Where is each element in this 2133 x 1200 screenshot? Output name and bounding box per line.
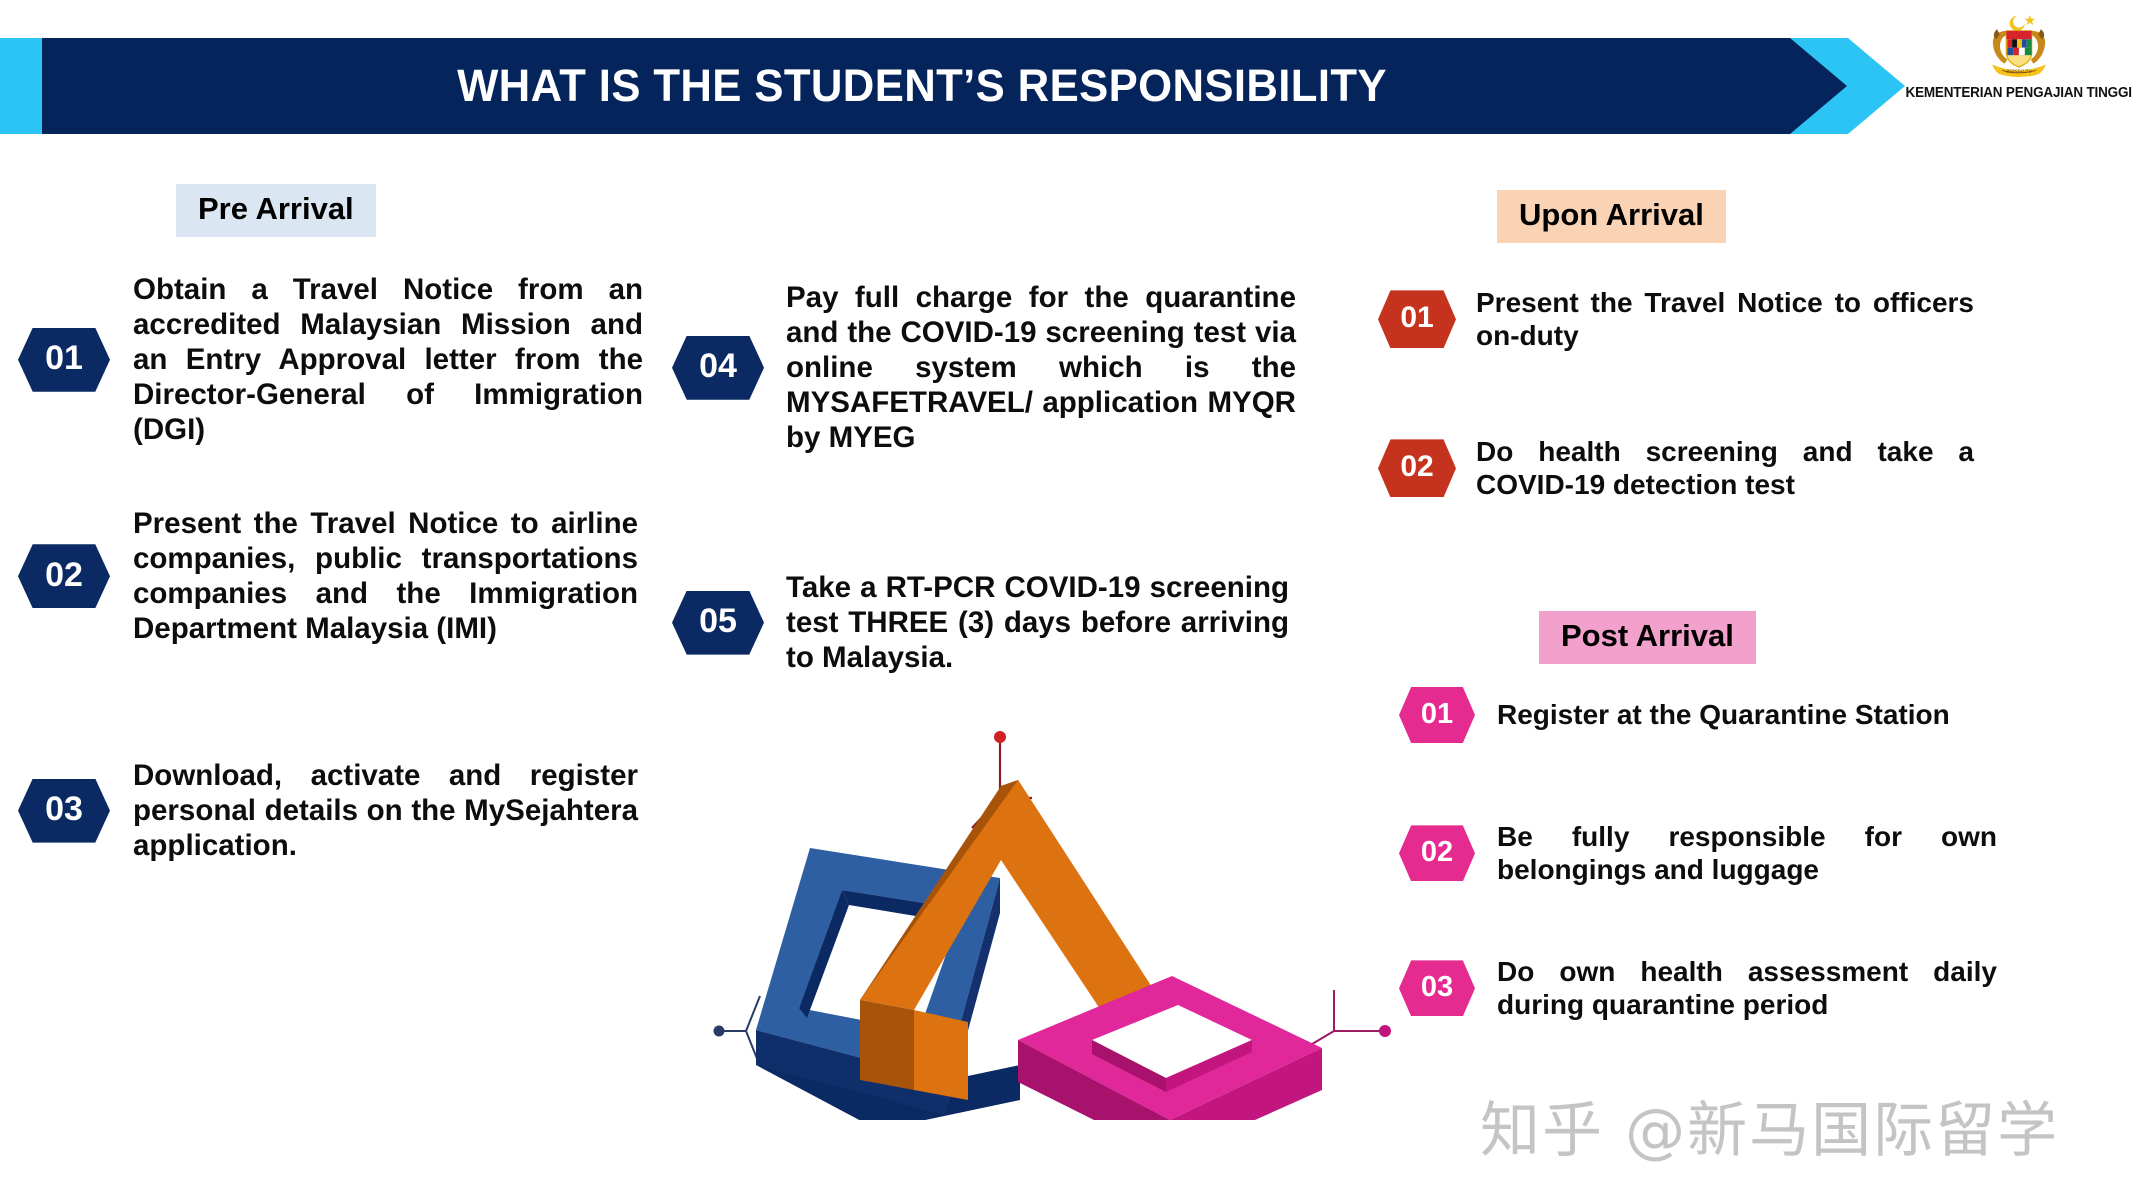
list-item-text: Download, activate and register personal… [133, 758, 638, 863]
pin-dot-top [994, 731, 1006, 743]
ministry-name-label: KEMENTERIAN PENGAJIAN TINGGI [1906, 85, 2132, 101]
header-banner: WHAT IS THE STUDENT’S RESPONSIBILITY [0, 38, 1905, 134]
list-item-text: Obtain a Travel Notice from an accredite… [133, 272, 643, 447]
list-item: 02 Present the Travel Notice to airline … [18, 506, 678, 646]
list-item-text: Present the Travel Notice to officers on… [1476, 286, 1974, 353]
list-item-text: Do health screening and take a COVID-19 … [1476, 435, 1974, 502]
step-badge: 01 [1399, 687, 1475, 743]
section-heading-pre-arrival: Pre Arrival [176, 184, 376, 237]
pin-dot-left [714, 1026, 725, 1037]
list-item: 01 Present the Travel Notice to officers… [1378, 286, 2078, 353]
list-item: 03 Download, activate and register perso… [18, 758, 678, 863]
list-item-text: Pay full charge for the quarantine and t… [786, 280, 1296, 455]
step-badge: 03 [18, 779, 110, 843]
svg-text:BERSEKUTU: BERSEKUTU [2006, 69, 2031, 74]
infographic-page: WHAT IS THE STUDENT’S RESPONSIBILITY [0, 0, 2133, 1200]
list-item: 02 Be fully responsible for own belongin… [1399, 820, 2099, 887]
list-item-text: Register at the Quarantine Station [1497, 698, 1997, 731]
section-heading-upon-arrival: Upon Arrival [1497, 190, 1726, 243]
list-item-text: Be fully responsible for own belongings … [1497, 820, 1997, 887]
pin-marker-left [722, 996, 760, 1066]
list-item-text: Do own health assessment daily during qu… [1497, 955, 1997, 1022]
step-badge: 05 [672, 591, 764, 655]
list-item: 04 Pay full charge for the quarantine an… [672, 280, 1332, 455]
list-item: 03 Do own health assessment daily during… [1399, 955, 2099, 1022]
step-badge: 03 [1399, 960, 1475, 1016]
watermark: 知乎 @新马国际留学 [1480, 1082, 2059, 1169]
list-item: 01 Obtain a Travel Notice from an accred… [18, 272, 678, 447]
list-item: 02 Do health screening and take a COVID-… [1378, 435, 2078, 502]
list-item-text: Take a RT-PCR COVID-19 screening test TH… [786, 570, 1289, 675]
page-title: WHAT IS THE STUDENT’S RESPONSIBILITY [68, 38, 1775, 134]
section-heading-post-arrival: Post Arrival [1539, 611, 1756, 664]
step-badge: 01 [1378, 290, 1456, 348]
malaysia-coat-of-arms-icon: BERSEKUTU [1977, 4, 2061, 88]
list-item: 01 Register at the Quarantine Station [1399, 687, 2099, 743]
ministry-logo: BERSEKUTU KEMENTERIAN PENGAJIAN TINGGI [1905, 4, 2133, 124]
magenta-square-shape [1018, 976, 1322, 1120]
step-badge: 04 [672, 336, 764, 400]
list-item: 05 Take a RT-PCR COVID-19 screening test… [672, 570, 1332, 675]
pin-dot-right [1379, 1025, 1391, 1037]
step-badge: 02 [18, 544, 110, 608]
step-badge: 02 [1378, 439, 1456, 497]
list-item-text: Present the Travel Notice to airline com… [133, 506, 638, 646]
step-badge: 02 [1399, 825, 1475, 881]
step-badge: 01 [18, 328, 110, 392]
interlocking-3d-shapes-illustration [700, 700, 1400, 1120]
